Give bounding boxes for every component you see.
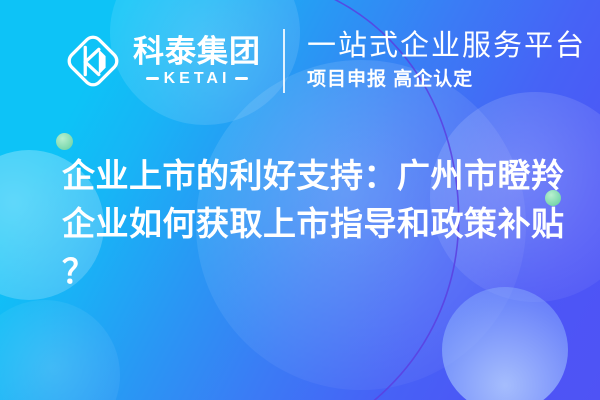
ketai-diamond-k-monogram-icon (62, 30, 124, 92)
tagline-sub: 项目申报 高企认定 (307, 69, 586, 92)
green-accent-dot-left (56, 133, 73, 150)
tagline-main: 一站式企业服务平台 (307, 30, 586, 63)
logo-company-name-cn: 科泰集团 (133, 36, 261, 67)
tagline-block: 一站式企业服务平台 项目申报 高企认定 (307, 30, 586, 92)
headline-block: 企业上市的利好支持：广州市瞪羚 企业如何获取上市指导和政策补贴 ？ (62, 152, 562, 296)
decorative-blob-bottom-right (442, 287, 568, 400)
logo-en-row: KETAI (133, 71, 261, 87)
logo-rule-right-icon (235, 77, 248, 80)
headline-line-1: 企业上市的利好支持：广州市瞪羚 (62, 152, 562, 200)
logo-wordmark: 科泰集团 KETAI (133, 36, 261, 87)
headline-line-2: 企业如何获取上市指导和政策补贴 (62, 200, 562, 248)
promo-banner: 科泰集团 KETAI 一站式企业服务平台 项目申报 高企认定 企业上市的利好支持… (0, 0, 600, 400)
banner-header: 科泰集团 KETAI 一站式企业服务平台 项目申报 高企认定 (0, 0, 600, 122)
headline-line-3: ？ (62, 248, 562, 296)
ketai-logo: 科泰集团 KETAI (62, 30, 261, 92)
logo-company-name-en: KETAI (164, 71, 231, 87)
header-divider (283, 29, 285, 93)
logo-rule-left-icon (146, 77, 159, 80)
decorative-blob-bottom-left (0, 300, 120, 400)
